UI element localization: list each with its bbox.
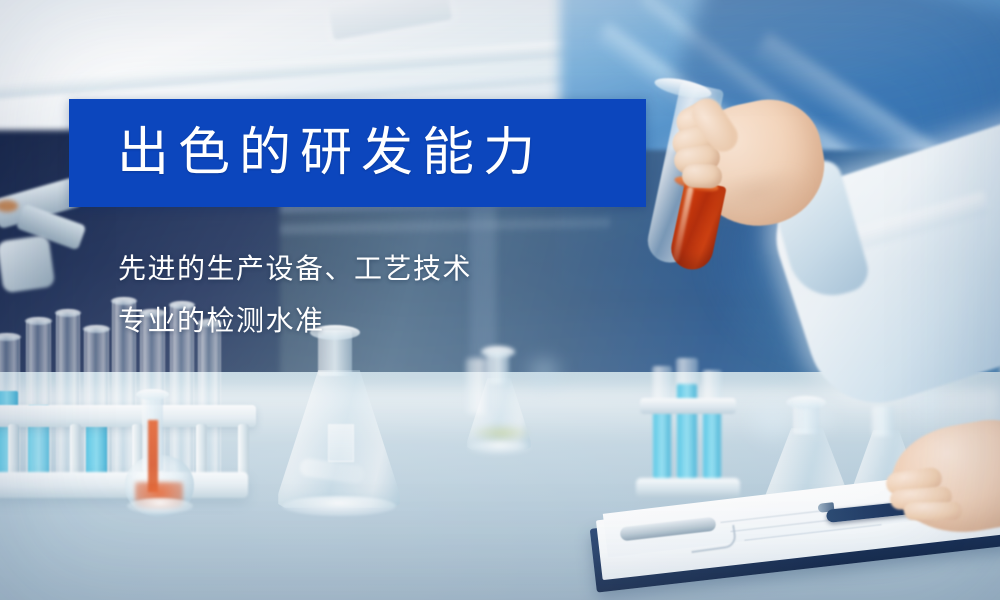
clipboard-written-line-1: [721, 502, 896, 523]
lab-coat-sleeve-fold: [810, 192, 989, 263]
page-title: 出色的研发能力: [117, 127, 544, 179]
rack-leg-4: [196, 424, 207, 486]
background-rack-lower-bar: [636, 478, 740, 498]
round-flask-base: [127, 498, 193, 514]
test-tube-rim: [25, 317, 52, 325]
pen: [826, 490, 1000, 523]
test-tube-rim: [83, 325, 110, 333]
bokeh-highlight-1: [742, 388, 804, 450]
clipboard-hand-finger-3: [904, 502, 962, 520]
finger-ring: [672, 143, 721, 175]
erlenmeyer-flask-foreground-base: [282, 496, 396, 516]
background-test-tube-3: [702, 370, 722, 484]
ceiling-light-fixture-2: [620, 0, 810, 56]
test-tube-rim: [55, 309, 81, 317]
test-tube-liquid-cyan: [28, 405, 49, 483]
wall-streak-2: [190, 218, 610, 237]
round-flask-liquid-pool: [135, 482, 183, 508]
background-test-tube-2: [676, 358, 698, 484]
clipboard-paper: [596, 474, 1000, 580]
test-tube-3: [56, 312, 80, 488]
clipboard-hand-finger-1: [885, 466, 944, 496]
subtitle-group: 先进的生产设备、工艺技术 专业的检测水准: [118, 243, 718, 347]
rack-leg-5: [238, 424, 249, 486]
microscope-part-lower: [0, 235, 55, 294]
round-flask-neck: [142, 393, 163, 471]
finger-little: [682, 163, 723, 188]
test-tube-2: [26, 320, 51, 486]
erlenmeyer-flask-far-right-neck: [872, 406, 894, 436]
background-diagonal-band-2: [634, 0, 984, 271]
subtitle-line-2: 专业的检测水准: [118, 295, 718, 347]
clipboard-paper-top-sheet: [603, 466, 1000, 557]
clipboard-written-line-2: [730, 513, 889, 532]
bokeh-highlight-4: [520, 354, 568, 390]
erlenmeyer-flask-background-base: [468, 440, 530, 454]
wall-glow-right: [700, 170, 1000, 390]
bokeh-highlight-2: [800, 398, 840, 438]
lab-bench-surface: [0, 372, 1000, 600]
erlenmeyer-flask-label: [328, 424, 354, 462]
erlenmeyer-flask-right-base: [762, 512, 854, 528]
background-glass-tube: [466, 358, 492, 414]
test-tube-rim: [0, 333, 21, 341]
clipboard-clip: [620, 517, 717, 542]
erlenmeyer-flask-right-rim: [786, 396, 826, 409]
test-tube-mouth-rim: [653, 74, 713, 102]
background-shelf-blur: [640, 120, 890, 190]
test-tube-4: [84, 328, 109, 488]
hand-holding-test-tube: [681, 90, 836, 239]
finger-middle: [669, 119, 723, 160]
erlenmeyer-flask-far-right-body: [846, 430, 926, 514]
title-banner-block: 出色的研发能力: [69, 99, 646, 207]
finger-thumb: [686, 93, 743, 158]
test-tube-1: [0, 336, 20, 486]
test-tube-rack-lower-bar: [0, 472, 248, 498]
background-test-tube-liquid-cyan: [677, 384, 697, 482]
erlenmeyer-flask-foreground-body: [278, 370, 400, 508]
erlenmeyer-flask-right-neck: [793, 400, 819, 434]
bokeh-highlight-3: [900, 372, 954, 426]
hand-on-clipboard: [884, 412, 1000, 544]
test-tube-liquid-cyan: [0, 391, 18, 483]
ceiling-light-fixture-1: [328, 0, 452, 40]
background-test-tube-liquid-cyan: [653, 402, 671, 482]
background-green-reflection: [472, 424, 530, 442]
lab-coat-sleeve: [762, 109, 1000, 420]
background-rack-upper-bar: [640, 398, 736, 414]
erlenmeyer-flask-right-body: [758, 428, 856, 524]
clipboard-board: [590, 481, 1000, 592]
background-test-tube-1: [652, 366, 672, 484]
lab-coat-cuff: [765, 156, 873, 305]
bench-sheen: [0, 388, 1000, 442]
hero-banner: 出色的研发能力 先进的生产设备、工艺技术 专业的检测水准: [0, 0, 1000, 600]
subtitle-line-1: 先进的生产设备、工艺技术: [118, 243, 718, 295]
microscope-orange-accent: [0, 200, 18, 212]
ceiling-rail: [0, 32, 680, 99]
test-tube-liquid-cyan: [86, 415, 107, 485]
pen-tip: [818, 502, 835, 513]
clipboard-hand-finger-2: [889, 486, 952, 510]
rack-leg-1: [8, 424, 19, 486]
test-tube-glass: [644, 81, 724, 266]
clipboard-clip-wire: [689, 525, 738, 553]
round-flask-liquid-red: [148, 420, 158, 492]
round-flask-body: [125, 455, 194, 517]
microscope-part-middle: [16, 203, 87, 250]
pen-pocket-clip: [948, 501, 982, 509]
background-test-tube-liquid-cyan: [703, 410, 721, 482]
rack-leg-3: [132, 424, 143, 486]
finger-index: [672, 95, 725, 142]
erlenmeyer-flask-etched-text: [299, 458, 365, 485]
test-tube-rack-upper-bar: [0, 405, 256, 427]
hand-shadow: [697, 165, 816, 231]
background-diagonal-band-3: [752, 33, 1000, 259]
erlenmeyer-flask-background-neck: [487, 350, 509, 384]
clipboard-hand-shadow: [878, 490, 1000, 545]
rack-leg-2: [70, 424, 81, 486]
erlenmeyer-flask-background-body: [467, 378, 531, 450]
test-tube-liquid-meniscus: [673, 173, 720, 194]
round-flask-rim: [136, 389, 169, 400]
clipboard-written-line-3: [744, 524, 881, 541]
background-dark-diagonal: [670, 0, 1000, 197]
erlenmeyer-flask-background-rim: [481, 346, 515, 358]
